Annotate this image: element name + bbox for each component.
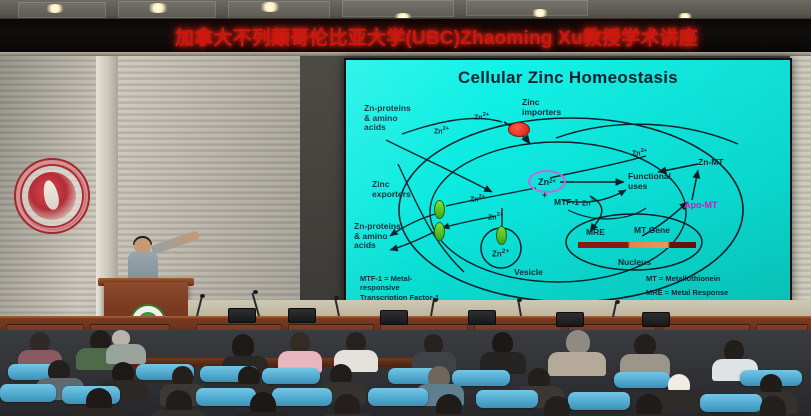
ceiling-light	[146, 3, 170, 13]
ceiling-panel	[466, 0, 588, 16]
audience-head	[436, 394, 462, 416]
label-zn-ion: Zn2+	[470, 194, 485, 204]
audience-head	[334, 394, 360, 416]
right-wall-slats	[790, 56, 811, 328]
zinc-importer-icon	[508, 122, 530, 137]
microphone-head-icon	[615, 300, 620, 304]
microphone-head-icon	[517, 298, 522, 302]
led-scanlines	[0, 19, 811, 55]
audience-shoulders	[150, 410, 208, 416]
audience-area	[0, 330, 811, 416]
mt-gene-bar	[578, 242, 696, 248]
lecture-hall-photo: 加拿大不列颠哥伦比亚大学(UBC)Zhaoming Xu教授学术讲座 Cellu…	[0, 0, 811, 416]
label-nucleus: Nucleus	[618, 258, 651, 268]
label-zn-ion: Zn2+	[632, 148, 647, 158]
vesicle-transporter-icon	[496, 226, 507, 245]
label-zn-ion: Zn2+	[488, 212, 503, 222]
label-mtf1: MTF-1	[554, 198, 579, 208]
microphone-head-icon	[253, 290, 258, 294]
audience-shoulders	[234, 412, 292, 416]
zinc-exporter-icon	[434, 222, 445, 241]
label-zinc-importers: Zinc importers	[522, 98, 561, 117]
ceiling-light	[530, 9, 550, 17]
audience-head	[634, 334, 656, 356]
auditorium-seat	[614, 372, 670, 388]
projection-screen: Cellular Zinc Homeostasis	[344, 58, 792, 328]
label-mt-gene: MT Gene	[634, 226, 670, 236]
audience-head	[232, 334, 254, 358]
audience-shoulders	[656, 390, 704, 412]
microphone-head-icon	[200, 294, 205, 298]
audience-shoulders	[106, 344, 146, 364]
audience-head	[566, 330, 590, 354]
desk-monitor	[642, 312, 670, 327]
auditorium-seat	[262, 368, 320, 384]
ceiling-light	[258, 2, 282, 12]
label-functional-uses: Functional uses	[628, 172, 671, 191]
label-zn-proteins-top: Zn-proteins & amino acids	[364, 104, 411, 133]
desk-monitor	[288, 308, 316, 323]
label-zn-mt: Zn-MT	[698, 158, 724, 168]
desk-monitor	[228, 308, 256, 323]
audience-head	[544, 396, 570, 416]
auditorium-seat	[568, 392, 630, 410]
audience-head	[636, 394, 662, 416]
auditorium-seat	[196, 388, 256, 406]
label-mre: MRE	[586, 228, 605, 238]
label-zinc-exporters: Zinc exporters	[372, 180, 411, 199]
microphone-head-icon	[334, 296, 339, 300]
microphone-head-icon	[433, 298, 438, 302]
audience-head	[346, 332, 366, 352]
zinc-exporter-icon	[434, 200, 445, 219]
audience-head	[492, 332, 513, 354]
audience-head	[30, 332, 50, 352]
label-apo-mt: Apo-MT	[684, 200, 718, 210]
slide-content: Cellular Zinc Homeostasis	[346, 60, 790, 318]
auditorium-seat	[452, 370, 510, 386]
ceiling-light	[44, 4, 66, 13]
audience-shoulders	[70, 408, 128, 416]
auditorium-seat	[700, 394, 762, 412]
auditorium-seat	[368, 388, 428, 406]
label-zn-ion: Zn2+	[582, 198, 597, 208]
auditorium-seat	[0, 384, 56, 402]
label-zn-proteins-bottom: Zn-proteins & amino acids	[354, 222, 401, 251]
label-zn-ion-vesicle: Zn2+	[492, 248, 509, 260]
footnote-mtf1: MTF-1 = Metal- responsive Transcription …	[360, 274, 439, 302]
label-plus: +	[542, 190, 547, 200]
university-crest-icon	[14, 158, 90, 234]
audience-head	[290, 332, 310, 353]
desk-monitor	[556, 312, 584, 327]
audience-shoulders	[548, 352, 606, 376]
auditorium-seat	[272, 388, 332, 406]
auditorium-seat	[476, 390, 538, 408]
audience-head	[760, 396, 786, 416]
desk-monitor	[380, 310, 408, 325]
audience-head	[424, 334, 443, 354]
label-zn-ion: Zn2+	[434, 126, 449, 136]
audience-head	[724, 340, 744, 361]
label-vesicle: Vesicle	[514, 268, 543, 278]
label-zn-ion: Zn2+	[474, 112, 489, 122]
desk-monitor	[468, 310, 496, 325]
